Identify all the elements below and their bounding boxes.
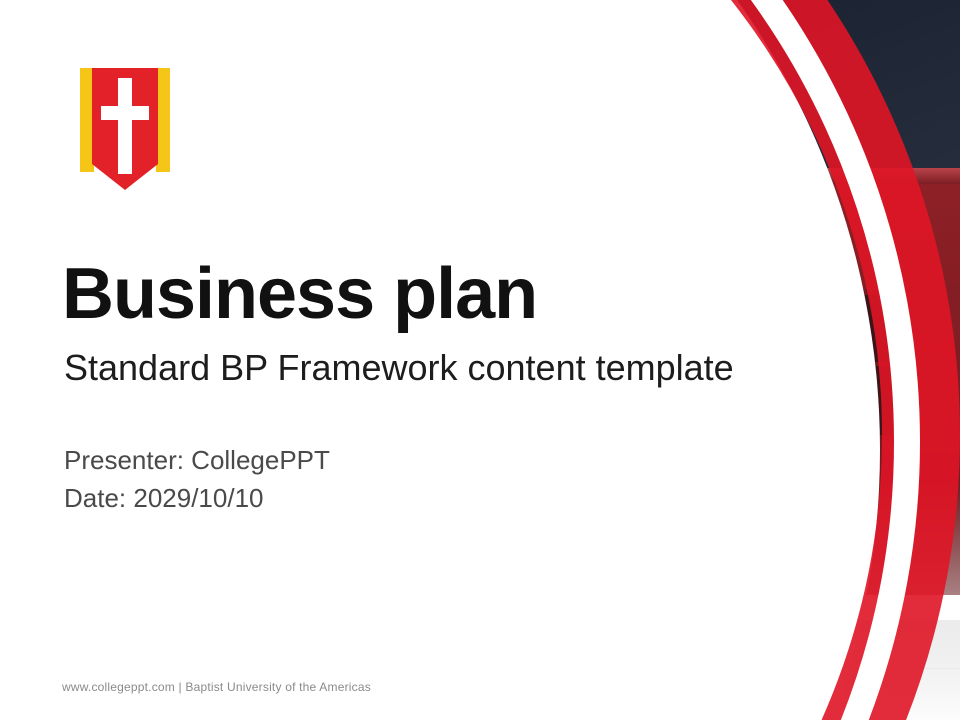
date-line: Date: 2029/10/10 [64, 485, 264, 511]
presentation-title-slide: niversity ricas [0, 0, 960, 720]
baptist-university-shield-logo [80, 68, 170, 190]
page-title: Business plan [62, 258, 537, 330]
footer-credit: www.collegeppt.com | Baptist University … [62, 680, 371, 694]
page-subtitle: Standard BP Framework content template [64, 350, 734, 386]
presenter-line: Presenter: CollegePPT [64, 447, 330, 473]
